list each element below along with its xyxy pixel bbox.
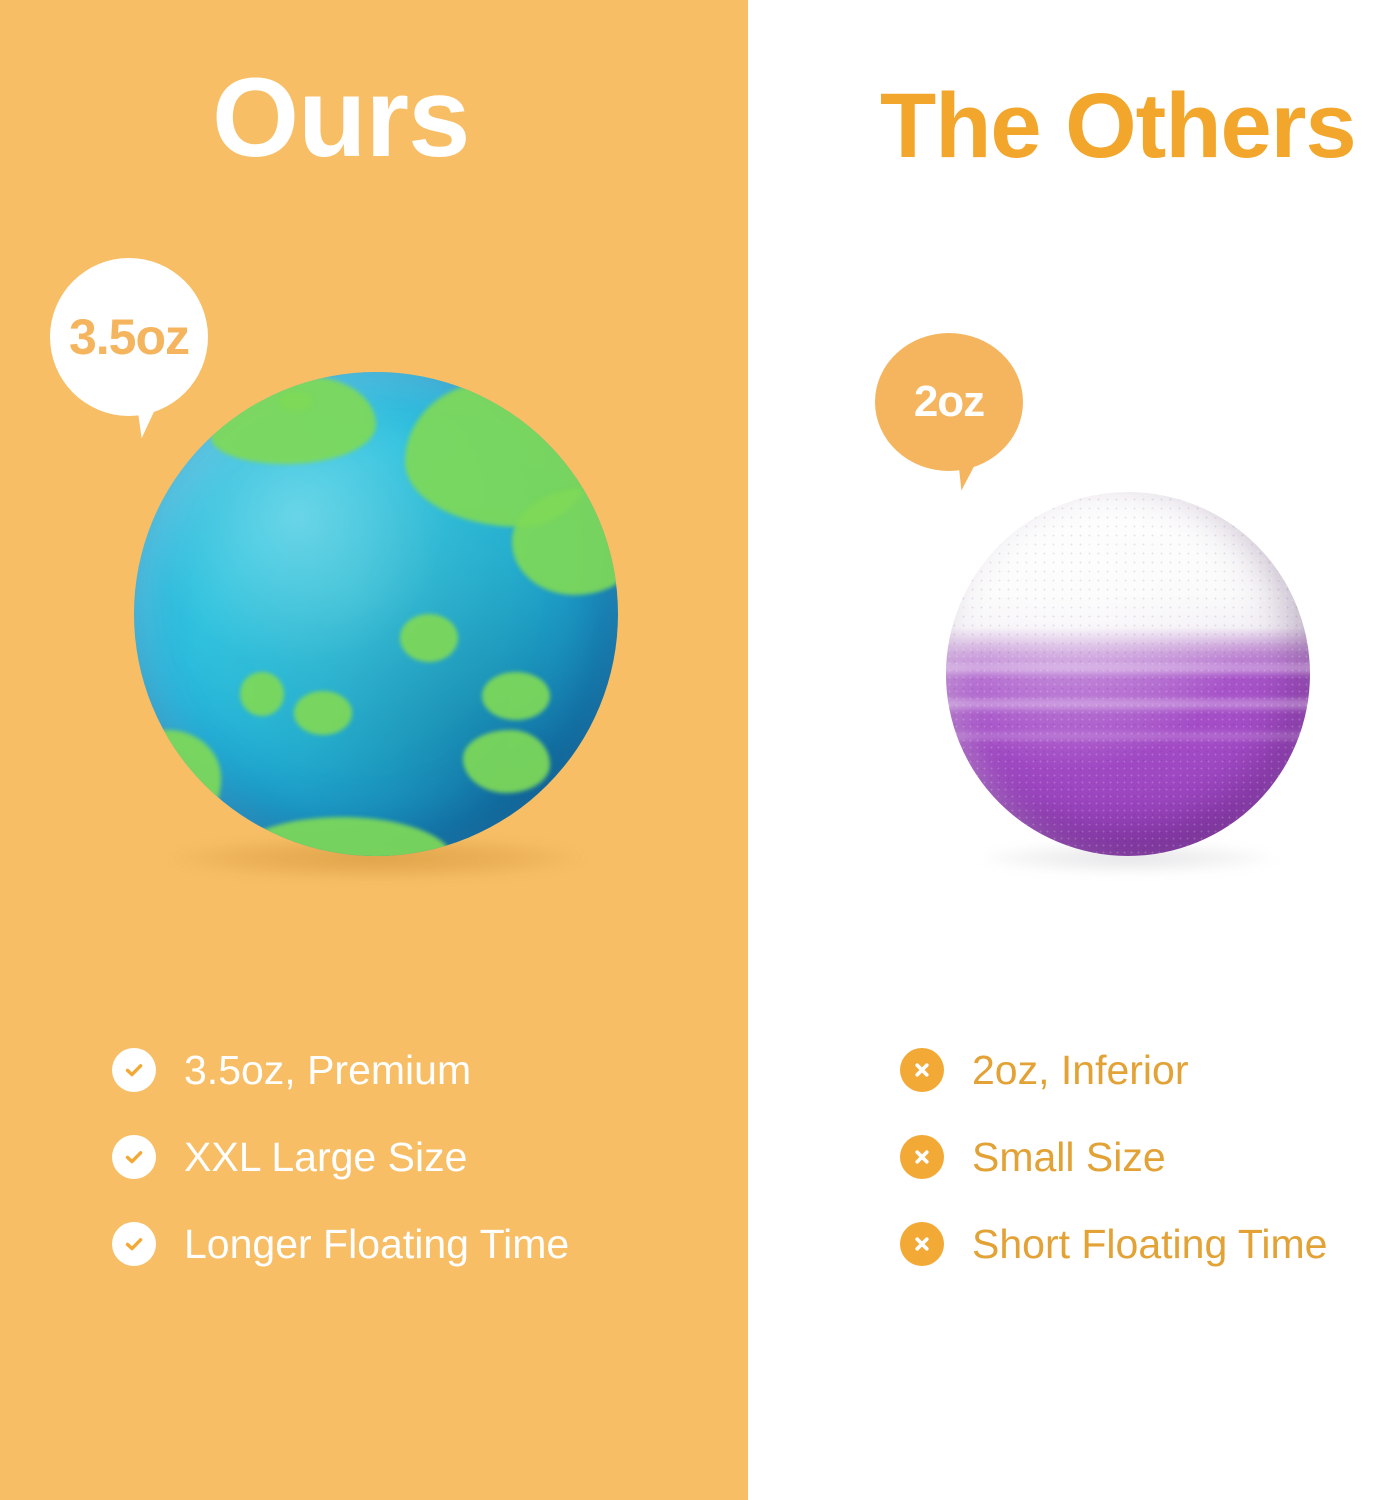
check-circle-icon xyxy=(112,1135,156,1179)
product-comparison-infographic: Ours 3.5oz 3.5oz, Premium xyxy=(0,0,1387,1500)
others-feature-label: Small Size xyxy=(972,1134,1166,1181)
others-feature-list: 2oz, Inferior Small Size Short Floating … xyxy=(900,1046,1328,1268)
ours-weight-badge: 3.5oz xyxy=(50,258,208,416)
others-feature-item-1: 2oz, Inferior xyxy=(900,1046,1328,1094)
cross-circle-icon xyxy=(900,1048,944,1092)
ours-feature-list: 3.5oz, Premium XXL Large Size Longer Flo… xyxy=(112,1046,569,1268)
others-heading: The Others xyxy=(880,80,1356,172)
others-feature-label: Short Floating Time xyxy=(972,1221,1328,1268)
others-weight-value: 2oz xyxy=(914,380,984,424)
others-weight-badge: 2oz xyxy=(875,333,1023,471)
ours-feature-item-3: Longer Floating Time xyxy=(112,1220,569,1268)
ours-feature-label: Longer Floating Time xyxy=(184,1221,569,1268)
ours-feature-item-1: 3.5oz, Premium xyxy=(112,1046,569,1094)
cross-circle-icon xyxy=(900,1135,944,1179)
ours-feature-label: XXL Large Size xyxy=(184,1134,467,1181)
ours-product-image xyxy=(134,372,618,856)
speech-bubble-tail-icon xyxy=(135,384,178,439)
others-product-image xyxy=(946,492,1310,856)
check-circle-icon xyxy=(112,1222,156,1266)
others-feature-item-3: Short Floating Time xyxy=(900,1220,1328,1268)
cross-circle-icon xyxy=(900,1222,944,1266)
speech-bubble-tail-icon xyxy=(957,443,993,490)
check-circle-icon xyxy=(112,1048,156,1092)
ours-feature-item-2: XXL Large Size xyxy=(112,1133,569,1181)
others-feature-item-2: Small Size xyxy=(900,1133,1328,1181)
ours-weight-value: 3.5oz xyxy=(69,312,189,362)
ours-heading: Ours xyxy=(212,62,469,174)
ours-feature-label: 3.5oz, Premium xyxy=(184,1047,471,1094)
others-feature-label: 2oz, Inferior xyxy=(972,1047,1189,1094)
